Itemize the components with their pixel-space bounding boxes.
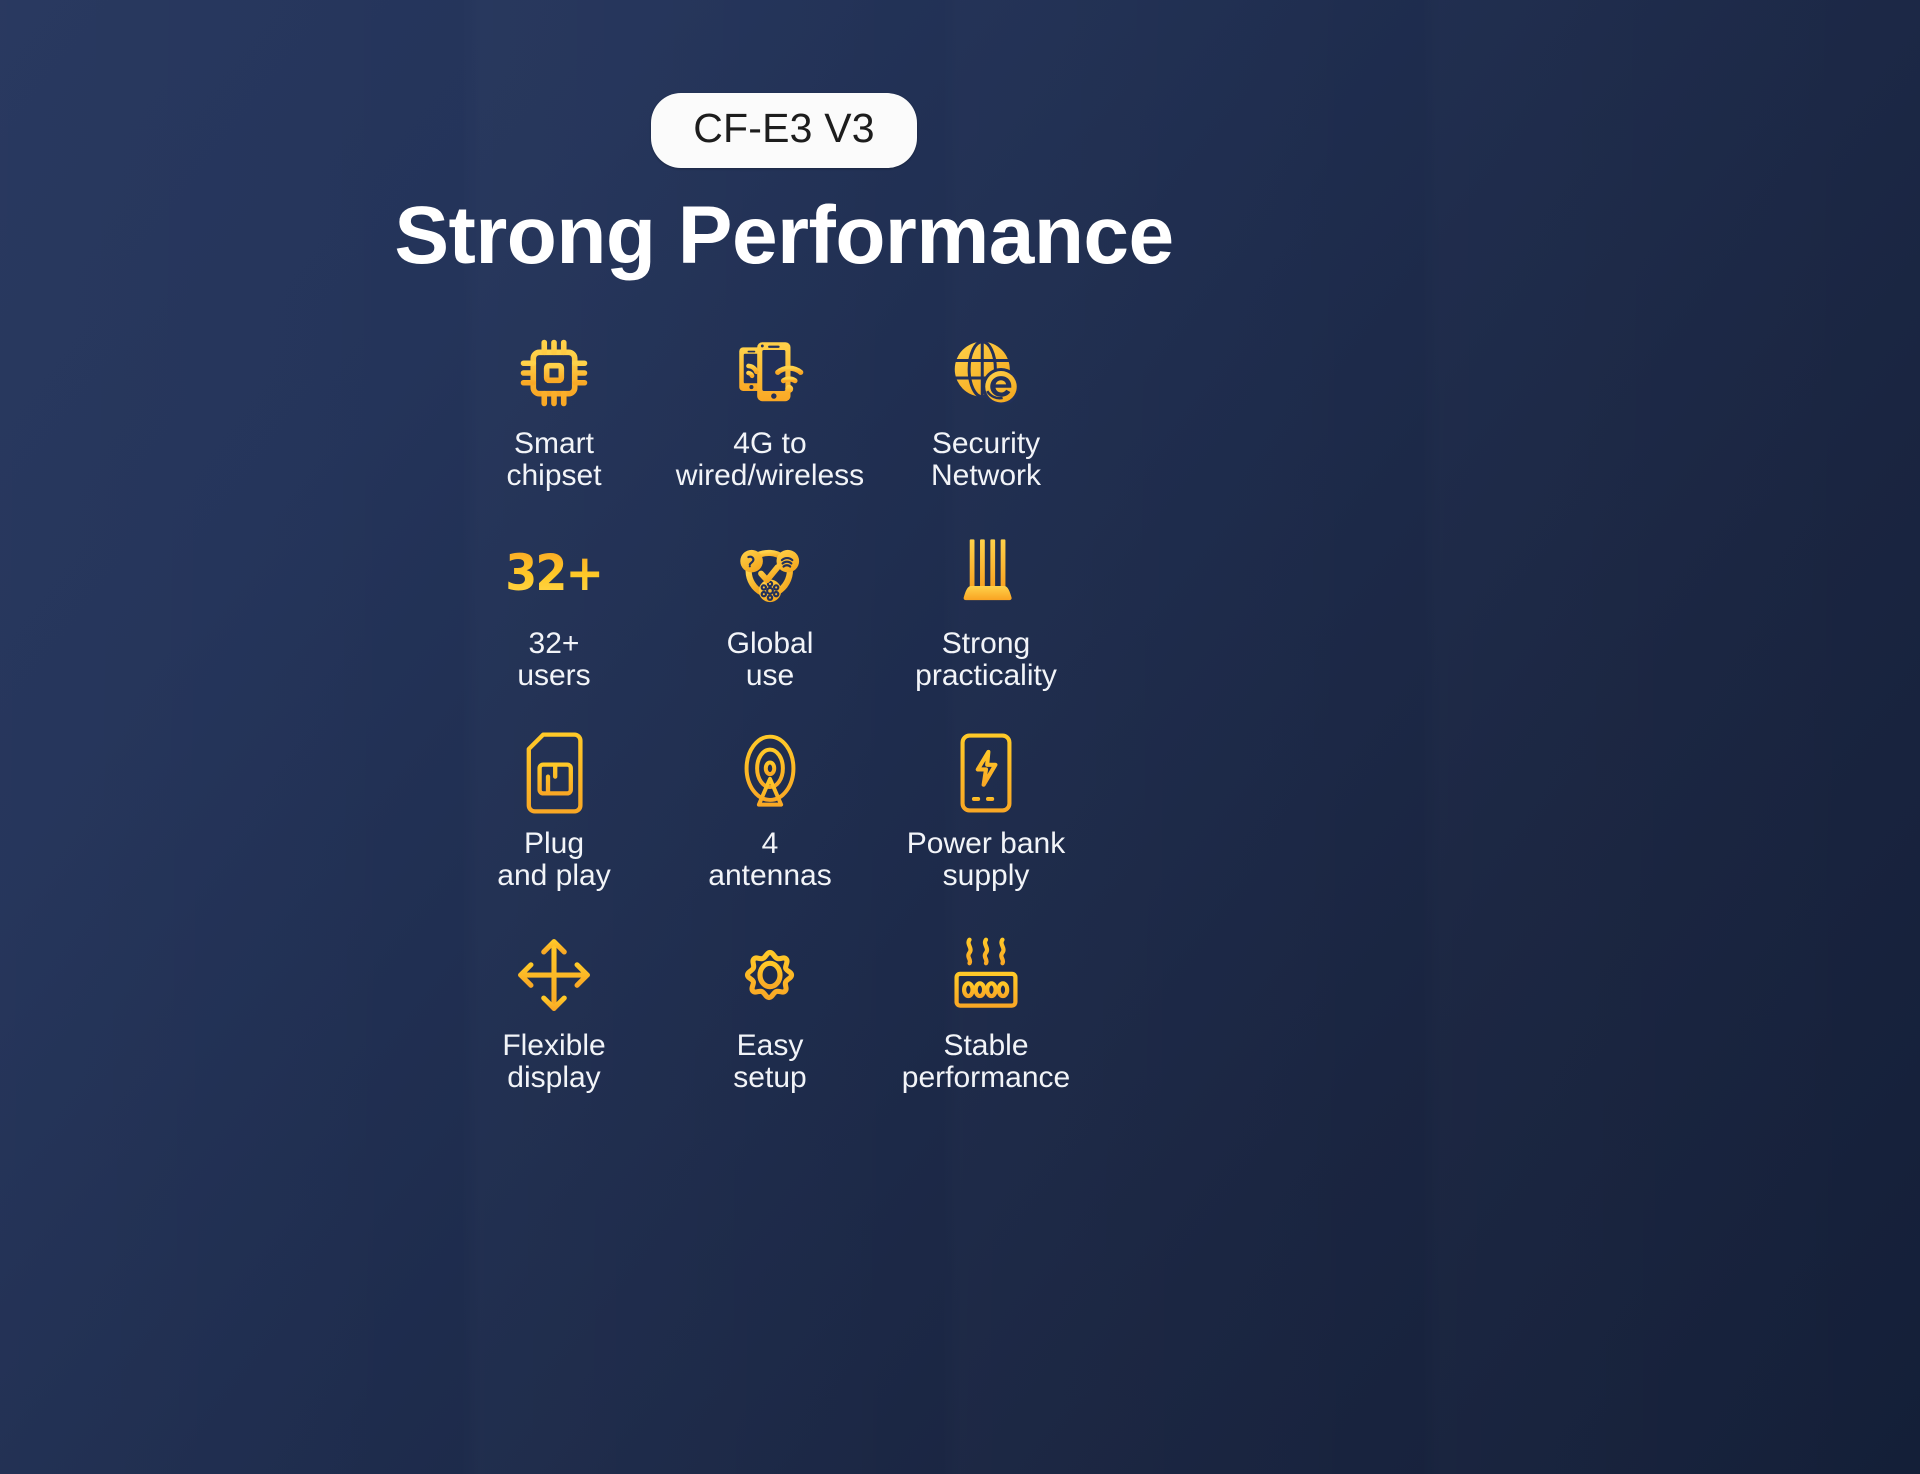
global-certification-icon <box>732 530 808 616</box>
feature-item-power-bank-supply: Power bank supply <box>878 730 1094 932</box>
feature-label: Stable performance <box>902 1030 1070 1095</box>
feature-label: 32+ users <box>517 628 590 693</box>
feature-label: Easy setup <box>733 1030 806 1095</box>
feature-item-4g-to-wired-wireless: 4G to wired/wireless <box>662 330 878 530</box>
power-bank-icon <box>955 730 1017 816</box>
heat-dissipation-icon <box>948 932 1024 1018</box>
model-badge: CF-E3 V3 <box>651 93 917 168</box>
feature-label: Global use <box>727 628 814 693</box>
two-phones-wifi-icon <box>729 330 811 416</box>
feature-label: Power bank supply <box>907 828 1065 893</box>
feature-item-easy-setup: Easy setup <box>662 932 878 1132</box>
product-feature-banner: CF-E3 V3 Strong Performance <box>0 0 1920 1474</box>
32-plus-number-text: 32+ <box>505 548 602 598</box>
feature-item-flexible-display: Flexible display <box>446 932 662 1132</box>
32-plus-number-icon: 32+ <box>501 530 606 616</box>
feature-item-strong-practicality: Strong practicality <box>878 530 1094 730</box>
header: CF-E3 V3 Strong Performance <box>0 0 1568 279</box>
feature-grid: Smart chipset <box>446 330 1094 1132</box>
feature-item-4-antennas: 4 antennas <box>662 730 878 932</box>
four-way-arrows-icon <box>513 932 595 1018</box>
feature-row: 32+ 32+ users <box>446 530 1094 730</box>
feature-item-plug-and-play: Plug and play <box>446 730 662 932</box>
feature-item-security-network: Security Network <box>878 330 1094 530</box>
feature-item-32-plus-users: 32+ 32+ users <box>446 530 662 730</box>
gear-icon <box>731 932 809 1018</box>
globe-internet-icon <box>946 330 1026 416</box>
sim-card-icon <box>521 730 587 816</box>
antenna-signal-icon <box>731 730 809 816</box>
feature-label: Smart chipset <box>506 428 601 493</box>
feature-row: Flexible display <box>446 932 1094 1132</box>
page-title: Strong Performance <box>0 193 1568 279</box>
feature-item-global-use: Global use <box>662 530 878 730</box>
feature-label: 4 antennas <box>708 828 831 893</box>
feature-label: Flexible display <box>502 1030 605 1095</box>
feature-item-stable-performance: Stable performance <box>878 932 1094 1132</box>
feature-label: Plug and play <box>497 828 610 893</box>
feature-row: Smart chipset <box>446 330 1094 530</box>
feature-label: 4G to wired/wireless <box>676 428 864 493</box>
feature-label: Security Network <box>931 428 1041 493</box>
feature-item-smart-chipset: Smart chipset <box>446 330 662 530</box>
cpu-chip-icon <box>515 330 593 416</box>
feature-row: Plug and play <box>446 730 1094 932</box>
pillar-icon <box>951 530 1021 616</box>
feature-label: Strong practicality <box>915 628 1057 693</box>
